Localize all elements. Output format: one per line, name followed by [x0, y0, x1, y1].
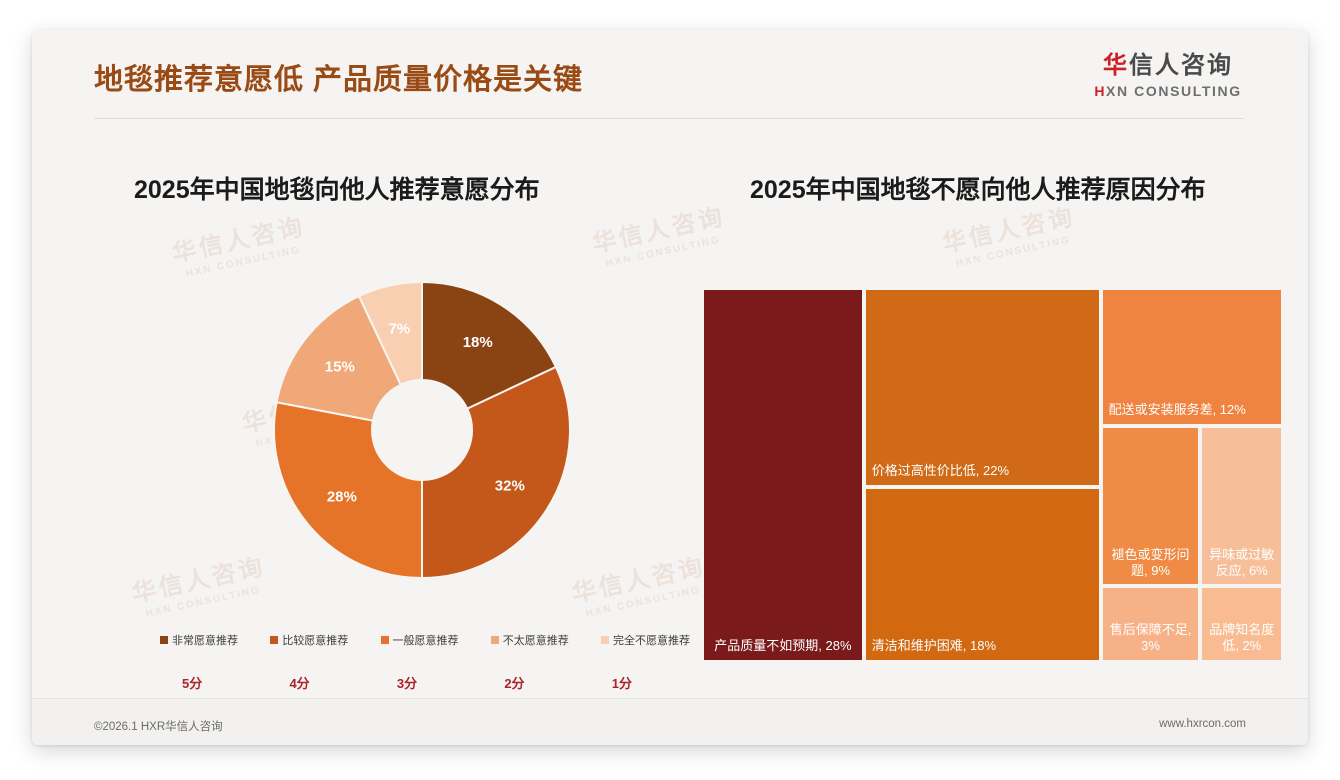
watermark: 华信人咨询 HXN CONSULTING [128, 546, 270, 621]
score-label: 3分 [397, 673, 417, 692]
treemap-cell-label: 产品质量不如预期, 28% [710, 638, 856, 654]
brand-logo: 华信人咨询 HXN CONSULTING [1068, 52, 1268, 99]
watermark: 华信人咨询 HXN CONSULTING [568, 546, 710, 621]
treemap-cell-label: 异味或过敏反应, 6% [1208, 547, 1275, 579]
logo-chinese: 华信人咨询 [1068, 52, 1268, 80]
score-label: 5分 [182, 673, 202, 692]
donut-slice-label: 18% [463, 334, 493, 351]
score-scale-row: 5分4分3分2分1分 [182, 673, 632, 692]
legend-swatch-icon [381, 636, 389, 644]
watermark: 华信人咨询 HXN CONSULTING [168, 206, 310, 281]
watermark: 华信人咨询 HXN CONSULTING [938, 196, 1080, 271]
footer-divider [32, 698, 1308, 699]
score-label: 2分 [504, 673, 524, 692]
legend-item-label: 非常愿意推荐 [172, 632, 238, 648]
watermark-cn: 华信人咨询 [128, 546, 267, 608]
donut-slice-label: 7% [388, 321, 410, 338]
right-chart-title: 2025年中国地毯不愿向他人推荐原因分布 [750, 170, 1206, 206]
treemap-cell-label: 价格过高性价比低, 22% [872, 463, 1093, 479]
treemap-cell-label: 售后保障不足, 3% [1109, 622, 1193, 654]
footer-copyright: ©2026.1 HXR华信人咨询 [94, 718, 223, 734]
watermark-en: HXN CONSULTING [176, 243, 310, 282]
recommendation-donut-chart: 18%32%28%15%7% [270, 278, 574, 582]
treemap-cell[interactable]: 褪色或变形问题, 9% [1101, 426, 1201, 587]
treemap-cell[interactable]: 品牌知名度低, 2% [1200, 586, 1283, 662]
watermark-cn: 华信人咨询 [168, 206, 307, 268]
logo-english-rest: XN CONSULTING [1106, 83, 1242, 99]
treemap-cell[interactable]: 价格过高性价比低, 22% [864, 288, 1101, 487]
footer-band [32, 699, 1308, 745]
legend-swatch-icon [491, 636, 499, 644]
slide-header: 地毯推荐意愿低 产品质量价格是关键 华信人咨询 HXN CONSULTING [32, 30, 1308, 125]
logo-english: HXN CONSULTING [1068, 83, 1268, 99]
treemap-cell-label: 配送或安装服务差, 12% [1109, 402, 1275, 418]
treemap-cell[interactable]: 配送或安装服务差, 12% [1101, 288, 1283, 426]
watermark-en: HXN CONSULTING [946, 233, 1080, 272]
watermark-cn: 华信人咨询 [588, 196, 727, 258]
legend-swatch-icon [601, 636, 609, 644]
treemap-cell[interactable]: 产品质量不如预期, 28% [702, 288, 864, 662]
legend-item-label: 完全不愿意推荐 [613, 632, 690, 648]
watermark-cn: 华信人咨询 [568, 546, 707, 608]
legend-item-label: 比较愿意推荐 [282, 632, 348, 648]
donut-slice-label: 28% [327, 488, 357, 505]
slide-canvas: 地毯推荐意愿低 产品质量价格是关键 华信人咨询 HXN CONSULTING 华… [32, 30, 1308, 745]
donut-slice[interactable] [422, 367, 570, 578]
treemap-cell-label: 清洁和维护困难, 18% [872, 638, 1093, 654]
legend-item[interactable]: 非常愿意推荐 [160, 632, 238, 648]
footer-website[interactable]: www.hxrcon.com [1159, 718, 1246, 730]
treemap-cell[interactable]: 清洁和维护困难, 18% [864, 487, 1101, 662]
logo-english-accent: H [1094, 83, 1106, 99]
watermark-en: HXN CONSULTING [596, 233, 730, 272]
legend-item[interactable]: 不太愿意推荐 [491, 632, 569, 648]
legend-item[interactable]: 比较愿意推荐 [270, 632, 348, 648]
reasons-treemap-chart: 产品质量不如预期, 28%价格过高性价比低, 22%清洁和维护困难, 18%配送… [702, 288, 1283, 662]
score-label: 1分 [612, 673, 632, 692]
legend-item[interactable]: 完全不愿意推荐 [601, 632, 690, 648]
treemap-cell-label: 品牌知名度低, 2% [1208, 622, 1275, 654]
donut-legend: 非常愿意推荐比较愿意推荐一般愿意推荐不太愿意推荐完全不愿意推荐 [160, 632, 690, 648]
legend-item-label: 不太愿意推荐 [503, 632, 569, 648]
treemap-cell-label: 褪色或变形问题, 9% [1109, 547, 1193, 579]
left-chart-title: 2025年中国地毯向他人推荐意愿分布 [134, 170, 540, 206]
legend-item[interactable]: 一般愿意推荐 [381, 632, 459, 648]
logo-chinese-rest: 信人咨询 [1129, 52, 1233, 79]
watermark: 华信人咨询 HXN CONSULTING [588, 196, 730, 271]
watermark-en: HXN CONSULTING [136, 583, 270, 622]
page-title: 地毯推荐意愿低 产品质量价格是关键 [94, 56, 583, 98]
logo-chinese-accent: 华 [1103, 52, 1129, 79]
treemap-cell[interactable]: 异味或过敏反应, 6% [1200, 426, 1283, 587]
treemap-cell[interactable]: 售后保障不足, 3% [1101, 586, 1201, 662]
header-divider [94, 118, 1244, 119]
donut-slice-label: 15% [325, 358, 355, 375]
watermark-en: HXN CONSULTING [576, 583, 710, 622]
legend-swatch-icon [270, 636, 278, 644]
donut-slice-label: 32% [495, 478, 525, 495]
legend-swatch-icon [160, 636, 168, 644]
score-label: 4分 [289, 673, 309, 692]
donut-svg: 18%32%28%15%7% [270, 278, 574, 582]
legend-item-label: 一般愿意推荐 [393, 632, 459, 648]
